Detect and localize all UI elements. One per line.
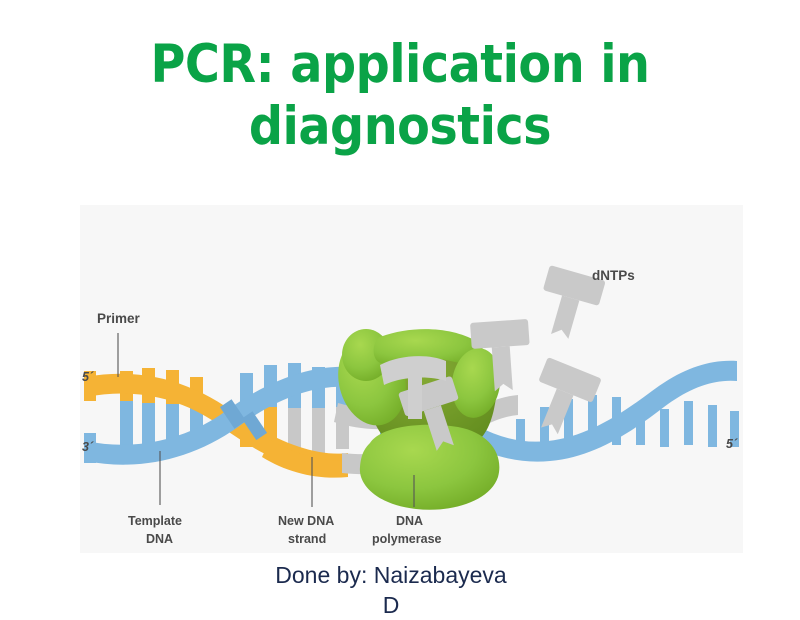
label-dntps: dNTPs xyxy=(592,268,635,283)
label-new-dna-line2: strand xyxy=(288,532,326,546)
label-template-dna-line1: Template xyxy=(128,514,182,528)
pcr-diagram-panel: Primer dNTPs 5´ 3´ 5´ Template DNA New D… xyxy=(80,205,743,553)
label-template-dna-line2: DNA xyxy=(146,532,173,546)
label-three-prime-left: 3´ xyxy=(82,440,94,454)
page-title: PCR: application in diagnostics xyxy=(0,34,800,158)
author-credit: Done by: Naizabayeva D xyxy=(0,560,800,620)
label-five-prime-left: 5´ xyxy=(82,370,94,384)
credit-line-2: D xyxy=(0,590,782,620)
label-primer: Primer xyxy=(97,311,141,326)
title-line-2: diagnostics xyxy=(0,96,800,158)
label-five-prime-right: 5´ xyxy=(726,437,738,451)
polymerase-lobe-bottom xyxy=(360,425,499,510)
label-new-dna-line1: New DNA xyxy=(278,514,334,528)
title-line-1: PCR: application in xyxy=(0,34,800,96)
credit-line-1: Done by: Naizabayeva xyxy=(0,560,782,590)
label-polymerase-line2: polymerase xyxy=(372,532,442,546)
slide: PCR: application in diagnostics xyxy=(0,0,800,600)
label-polymerase-line1: DNA xyxy=(396,514,423,528)
